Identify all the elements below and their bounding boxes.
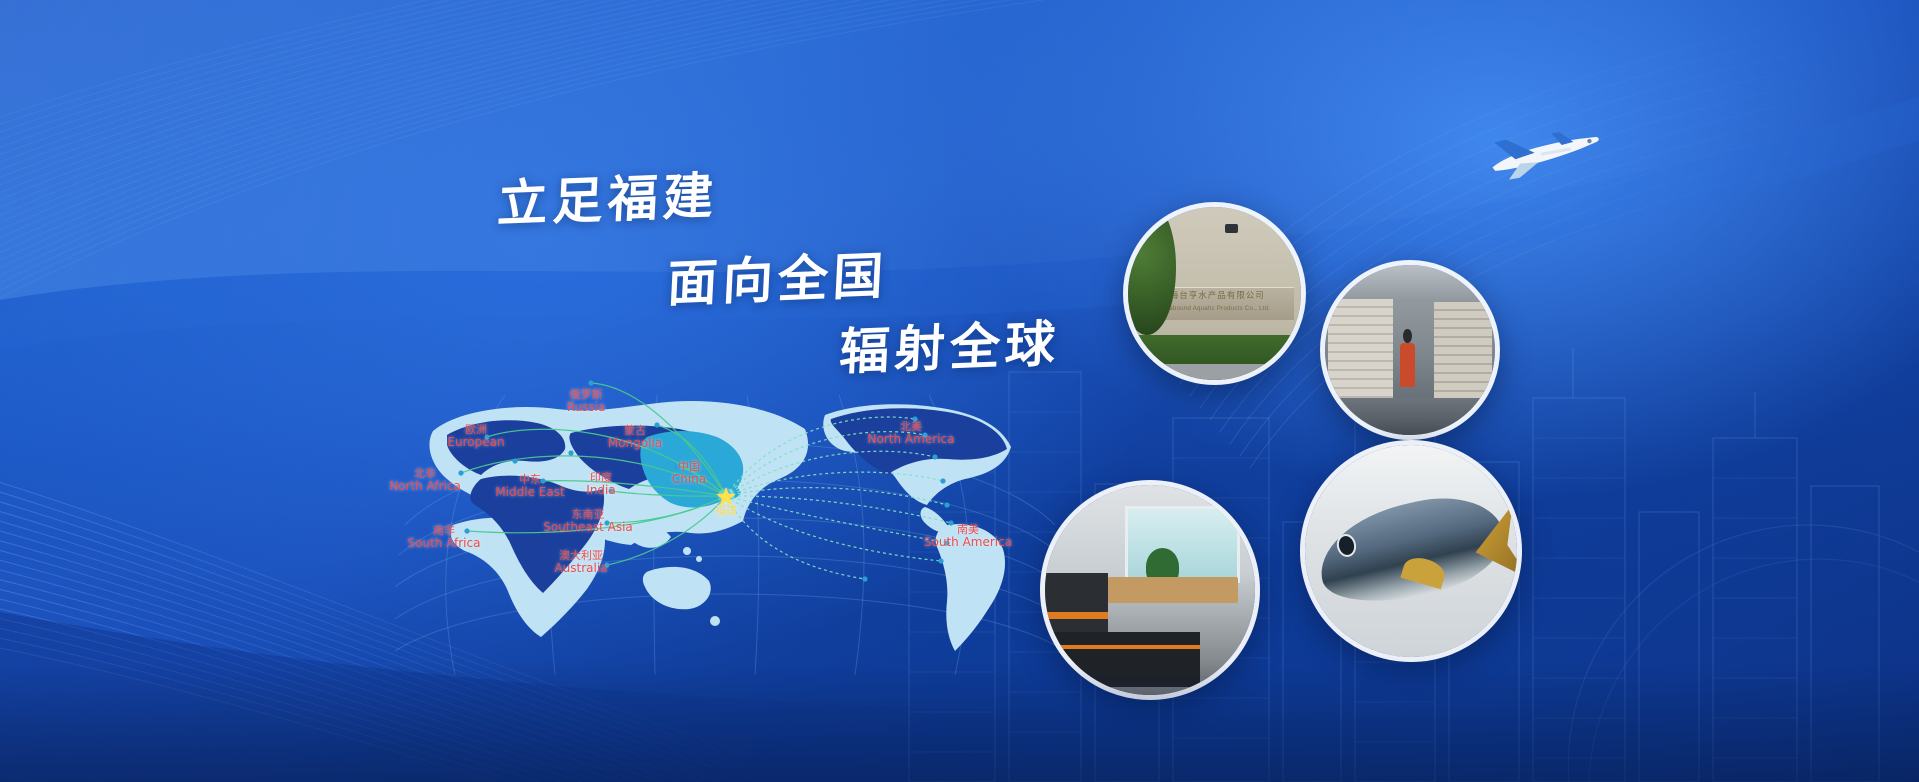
map-label-home: 福建 — [715, 505, 737, 517]
map-label-russia: 俄罗斯 Russia — [567, 389, 606, 413]
map-label-north-africa: 北非 North Africa — [389, 468, 461, 492]
cold-storage-floor — [1325, 398, 1495, 435]
map-label-south-america: 南美 South America — [924, 524, 1012, 548]
carton-stack-left — [1328, 299, 1393, 404]
bottom-glow — [0, 662, 1919, 782]
cold-storage-ceiling — [1325, 265, 1495, 302]
map-label-south-africa: 南非 South Africa — [408, 525, 481, 549]
global-distribution-banner: 立足福建 面向全国 辐射全球 — [0, 0, 1919, 782]
cold-storage-photo[interactable] — [1320, 260, 1500, 440]
headline-line-1: 立足福建 — [496, 156, 720, 236]
map-label-mongolia: 蒙古 Mongolia — [608, 425, 662, 449]
headline-line-2: 面向全国 — [666, 236, 890, 316]
carton-stack-right — [1434, 302, 1492, 404]
world-distribution-map: 福建 俄罗斯 Russia 蒙古 Mongolia 中国 China 欧洲 Eu… — [395, 375, 1065, 675]
gate-lamp-icon — [1225, 224, 1238, 233]
headline-line-3: 辐射全球 — [838, 304, 1062, 384]
company-gate-photo[interactable]: 石狮市海台亨水产品有限公司 Shishi Seabound Aquatic Pr… — [1123, 202, 1306, 385]
map-label-european: 欧洲 European — [447, 424, 504, 448]
office-interior-photo[interactable] — [1040, 480, 1260, 700]
tuna-fish-photo[interactable] — [1300, 440, 1522, 662]
office-window — [1125, 506, 1240, 583]
office-desk — [1108, 577, 1238, 602]
gate-road — [1128, 364, 1301, 380]
map-label-india: 印度 India — [586, 472, 615, 496]
map-label-southeast-asia: 东南亚 Southeast Asia — [543, 509, 633, 533]
worker-figure — [1400, 343, 1415, 387]
map-label-china: 中国 China — [672, 461, 706, 485]
map-label-north-america: 北美 North America — [868, 421, 955, 445]
map-label-australia: 澳大利亚 Australia — [554, 550, 607, 574]
office-cabinet-bottom — [1053, 632, 1200, 687]
map-label-middle-east: 中东 Middle East — [495, 474, 564, 498]
airplane-icon — [1485, 128, 1605, 180]
